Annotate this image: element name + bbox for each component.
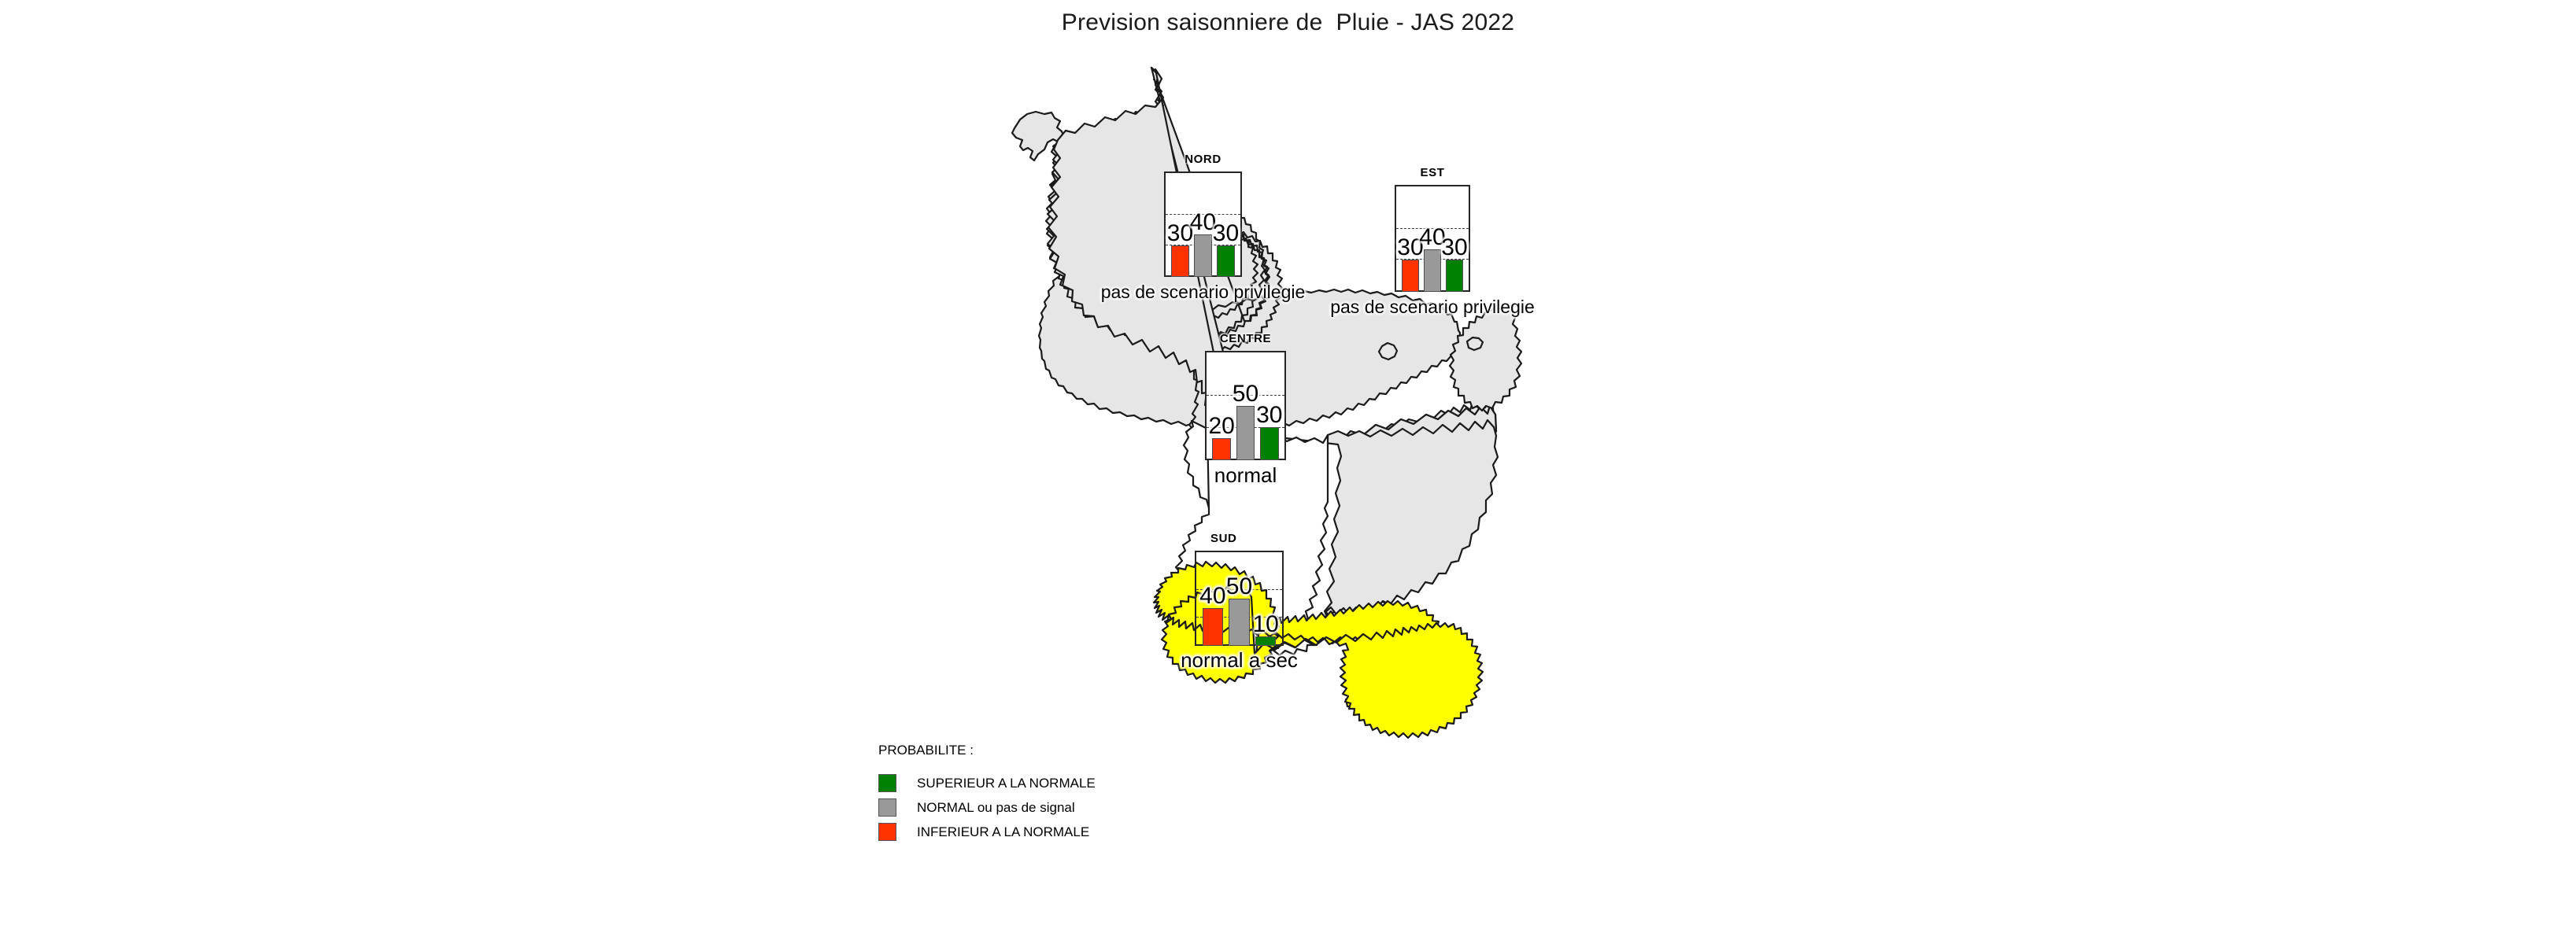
bar-slot-normal-centre: 50 <box>1236 351 1255 460</box>
bar-below-normal-sud[interactable] <box>1203 608 1223 646</box>
bar-near-normal-est[interactable] <box>1424 249 1441 292</box>
bar-below-normal-nord[interactable] <box>1171 245 1189 277</box>
bar-near-normal-centre[interactable] <box>1236 406 1255 461</box>
bar-slot-above-est: 30 <box>1446 185 1463 292</box>
bar-slot-normal-nord: 40 <box>1194 171 1212 277</box>
legend-swatch-near-normal <box>878 798 896 817</box>
island-east-large <box>1450 306 1521 411</box>
bar-slot-normal-sud: 50 <box>1229 551 1249 646</box>
bar-value-above-nord: 30 <box>1213 222 1239 245</box>
bar-value-below-sud: 40 <box>1199 584 1225 608</box>
bar-slot-above-centre: 30 <box>1260 351 1279 460</box>
bar-near-normal-nord[interactable] <box>1194 234 1212 277</box>
legend-label-above-normal: SUPERIEUR A LA NORMALE <box>917 776 1096 791</box>
bar-slot-above-nord: 30 <box>1217 171 1235 277</box>
bar-group-est: 30 40 30 <box>1395 185 1470 292</box>
bar-slot-below-est: 30 <box>1402 185 1419 292</box>
panel-title-est: EST <box>1395 166 1470 179</box>
bar-value-normal-sud: 50 <box>1226 575 1252 599</box>
bar-slot-normal-est: 40 <box>1424 185 1441 292</box>
panel-title-centre: CENTRE <box>1205 332 1286 345</box>
panel-caption-centre: normal <box>1214 463 1277 488</box>
legend-swatch-above-normal <box>878 774 896 792</box>
bar-value-below-centre: 20 <box>1208 415 1234 438</box>
forecast-panel-sud: SUD 40 50 10 normal a sec <box>1195 551 1284 646</box>
legend-label-near-normal: NORMAL ou pas de signal <box>917 800 1075 816</box>
legend-label-below-normal: INFERIEUR A LA NORMALE <box>917 824 1089 840</box>
bar-value-above-est: 30 <box>1441 236 1467 260</box>
legend-item-near-normal: NORMAL ou pas de signal <box>878 795 1096 820</box>
legend-item-below-normal: INFERIEUR A LA NORMALE <box>878 820 1096 844</box>
madagascar-map-svg <box>0 0 2576 944</box>
legend: PROBABILITE : SUPERIEUR A LA NORMALE NOR… <box>878 743 1096 844</box>
bar-near-normal-sud[interactable] <box>1229 599 1249 647</box>
bar-above-normal-centre[interactable] <box>1260 427 1279 460</box>
panel-caption-nord: pas de scenario privilegie <box>1101 282 1306 303</box>
forecast-panel-est: EST 30 40 30 pas de scenario privilegie <box>1395 185 1470 292</box>
bar-below-normal-centre[interactable] <box>1212 438 1231 460</box>
bar-above-normal-sud[interactable] <box>1255 636 1276 646</box>
bar-value-normal-centre: 50 <box>1233 382 1258 406</box>
forecast-panel-centre: CENTRE 20 50 30 normal <box>1205 351 1286 460</box>
bar-slot-above-sud: 10 <box>1255 551 1276 646</box>
island-east-small <box>1379 343 1397 360</box>
legend-title: PROBABILITE : <box>878 743 1096 758</box>
panel-title-nord: NORD <box>1164 153 1242 166</box>
panel-caption-est: pas de scenario privilegie <box>1330 297 1535 318</box>
bar-slot-below-centre: 20 <box>1212 351 1231 460</box>
bar-above-normal-est[interactable] <box>1446 260 1463 292</box>
forecast-panel-nord: NORD 30 40 30 pas de scenario privilegie <box>1164 171 1242 277</box>
legend-swatch-below-normal <box>878 823 896 841</box>
bar-slot-below-nord: 30 <box>1171 171 1189 277</box>
bar-group-nord: 30 40 30 <box>1164 171 1242 277</box>
panel-caption-sud: normal a sec <box>1181 648 1298 673</box>
bar-below-normal-est[interactable] <box>1402 260 1419 292</box>
bar-group-centre: 20 50 30 <box>1205 351 1286 460</box>
bar-group-sud: 40 50 10 <box>1195 551 1284 646</box>
forecast-map: NORD 30 40 30 pas de scenario privilegie… <box>0 0 2576 944</box>
bar-above-normal-nord[interactable] <box>1217 245 1235 277</box>
bar-value-above-centre: 30 <box>1256 404 1282 427</box>
bar-value-above-sud: 10 <box>1252 613 1278 636</box>
bar-slot-below-sud: 40 <box>1203 551 1223 646</box>
panel-title-sud: SUD <box>1210 532 1236 545</box>
legend-item-above-normal: SUPERIEUR A LA NORMALE <box>878 771 1096 795</box>
